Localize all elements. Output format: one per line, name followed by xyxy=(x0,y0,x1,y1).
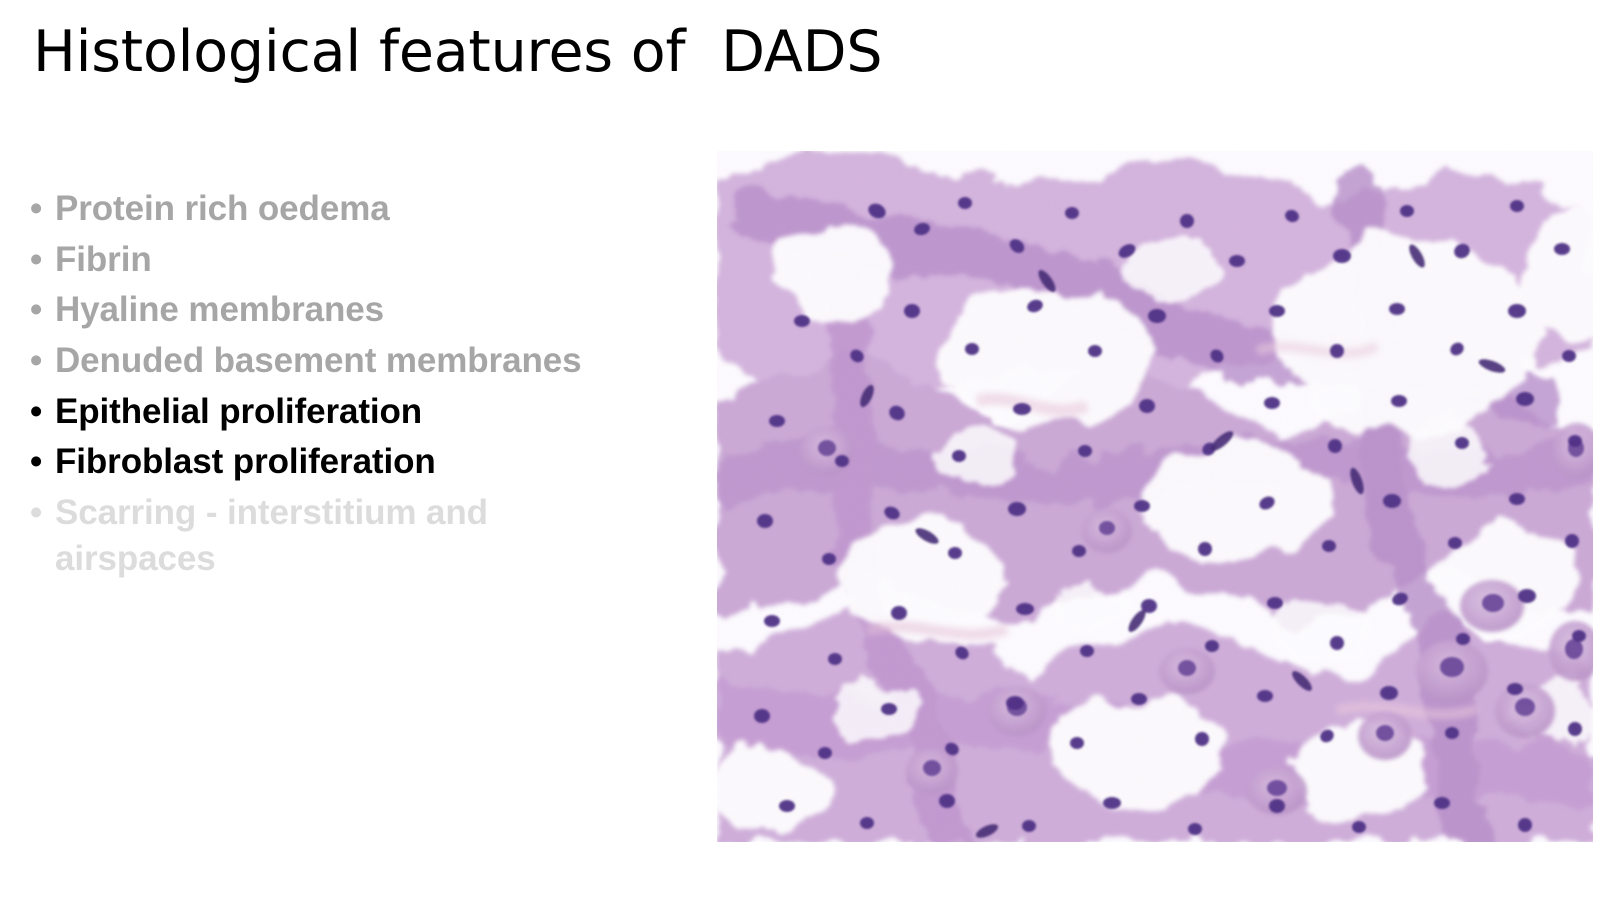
bullet-marker-icon: • xyxy=(30,287,42,333)
bullet-marker-icon: • xyxy=(30,389,42,435)
list-item-label: Fibroblast proliferation xyxy=(55,439,640,485)
list-item-label: Protein rich oedema xyxy=(55,186,640,232)
page-title: Histological features of DADS xyxy=(33,22,1133,84)
slide-canvas: Histological features of DADS • Protein … xyxy=(0,0,1600,900)
list-item-label: Denuded basement membranes xyxy=(55,338,640,384)
list-item[interactable]: • Protein rich oedema xyxy=(28,186,640,232)
list-item-label: Fibrin xyxy=(55,237,640,283)
list-item[interactable]: • Hyaline membranes xyxy=(28,287,640,333)
list-item-label: Epithelial proliferation xyxy=(55,389,640,435)
list-item[interactable]: • Fibroblast proliferation xyxy=(28,439,640,485)
list-item[interactable]: • Fibrin xyxy=(28,237,640,283)
feature-bullet-list: • Protein rich oedema • Fibrin • Hyaline… xyxy=(28,186,640,586)
list-item[interactable]: • Epithelial proliferation xyxy=(28,389,640,435)
list-item-label: Hyaline membranes xyxy=(55,287,640,333)
bullet-marker-icon: • xyxy=(30,237,42,283)
histology-image xyxy=(717,151,1593,842)
bullet-marker-icon: • xyxy=(30,439,42,485)
list-item-label: Scarring - interstitium and airspaces xyxy=(55,490,640,581)
bullet-marker-icon: • xyxy=(30,490,42,536)
bullet-marker-icon: • xyxy=(30,186,42,232)
list-item[interactable]: • Denuded basement membranes xyxy=(28,338,640,384)
bullet-marker-icon: • xyxy=(30,338,42,384)
histology-micrograph xyxy=(717,151,1593,842)
list-item[interactable]: • Scarring - interstitium and airspaces xyxy=(28,490,640,581)
